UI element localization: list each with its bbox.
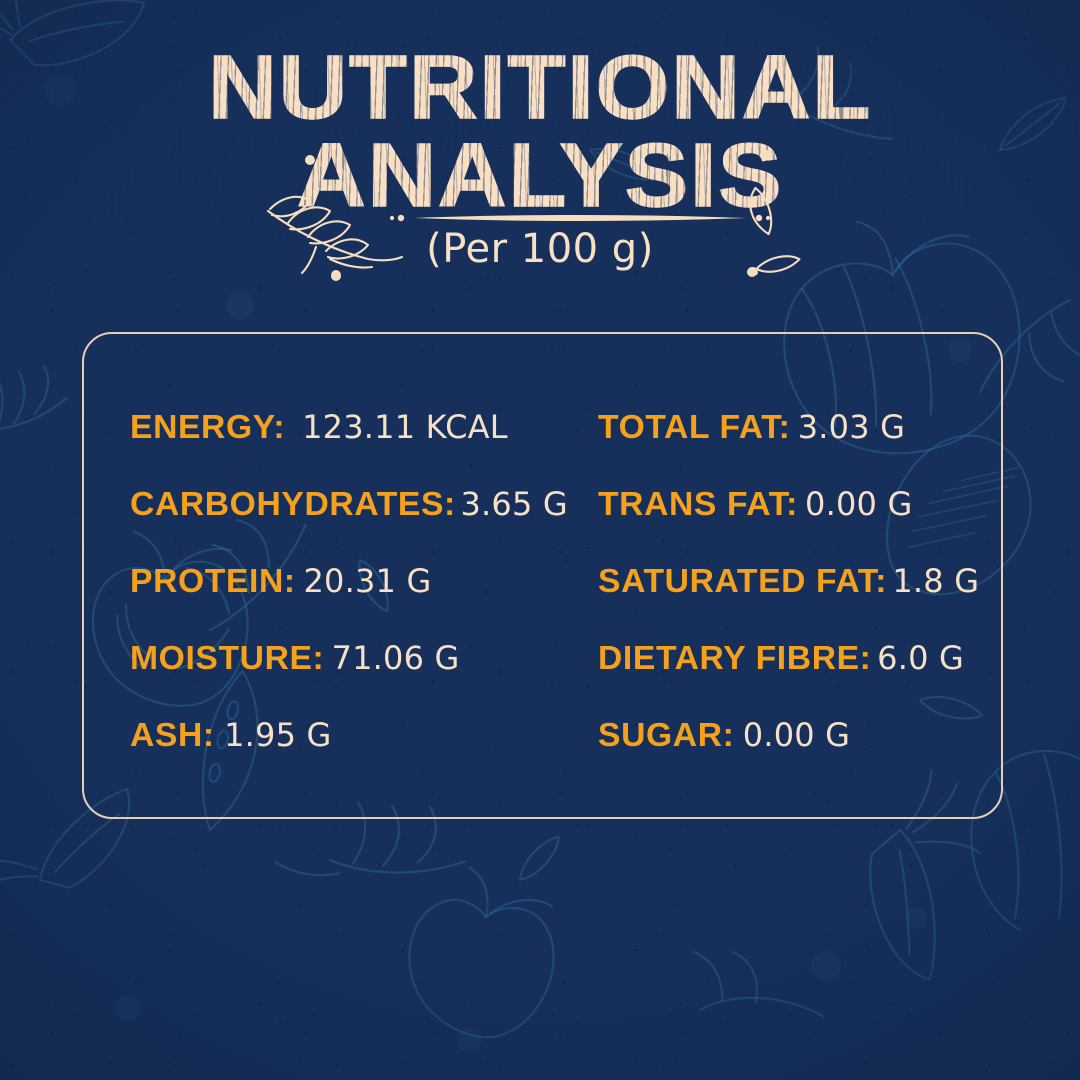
nutrient-row-protein: PROTEIN: 20.31 G <box>130 542 598 619</box>
nutrient-label: TRANS FAT: <box>598 485 798 523</box>
nutrient-value: 123.11 KCAL <box>302 408 508 446</box>
nutrient-row-carbohydrates: CARBOHYDRATES: 3.65 G <box>130 465 598 542</box>
nutrition-grid: ENERGY: 123.11 KCAL CARBOHYDRATES: 3.65 … <box>130 388 981 773</box>
nutrition-column-right: TOTAL FAT: 3.03 G TRANS FAT: 0.00 G SATU… <box>598 388 981 773</box>
scatter-dots <box>0 140 1080 300</box>
nutrient-label: SATURATED FAT: <box>598 562 887 600</box>
nutrient-value: 0.00 G <box>743 716 850 754</box>
nutrient-row-sugar: SUGAR: 0.00 G <box>598 696 981 773</box>
nutrient-value: 1.8 G <box>892 562 979 600</box>
nutrient-value: 3.03 G <box>798 408 905 446</box>
nutrient-label: DIETARY FIBRE: <box>598 639 872 677</box>
nutrient-value: 3.65 G <box>460 485 567 523</box>
nutrient-row-energy: ENERGY: 123.11 KCAL <box>130 388 598 465</box>
nutrient-row-moisture: MOISTURE: 71.06 G <box>130 619 598 696</box>
nutrient-label: PROTEIN: <box>130 562 296 600</box>
nutrient-row-total-fat: TOTAL FAT: 3.03 G <box>598 388 981 465</box>
nutrient-value: 20.31 G <box>303 562 431 600</box>
nutrient-label: CARBOHYDRATES: <box>130 485 456 523</box>
nutrient-label: TOTAL FAT: <box>598 408 790 446</box>
nutrient-label: ENERGY: <box>130 408 285 446</box>
nutrient-value: 0.00 G <box>805 485 912 523</box>
nutrient-row-saturated-fat: SATURATED FAT: 1.8 G <box>598 542 981 619</box>
nutrition-column-left: ENERGY: 123.11 KCAL CARBOHYDRATES: 3.65 … <box>130 388 598 773</box>
nutrition-card: ENERGY: 123.11 KCAL CARBOHYDRATES: 3.65 … <box>82 332 1003 819</box>
nutrient-value: 1.95 G <box>224 716 331 754</box>
nutrient-label: MOISTURE: <box>130 639 324 677</box>
nutrient-label: ASH: <box>130 716 215 754</box>
nutrient-row-dietary-fibre: DIETARY FIBRE: 6.0 G <box>598 619 981 696</box>
nutrient-label: SUGAR: <box>598 716 734 754</box>
nutrient-value: 6.0 G <box>877 639 964 677</box>
nutrient-row-ash: ASH: 1.95 G <box>130 696 598 773</box>
nutrient-value: 71.06 G <box>332 639 460 677</box>
nutrient-row-trans-fat: TRANS FAT: 0.00 G <box>598 465 981 542</box>
